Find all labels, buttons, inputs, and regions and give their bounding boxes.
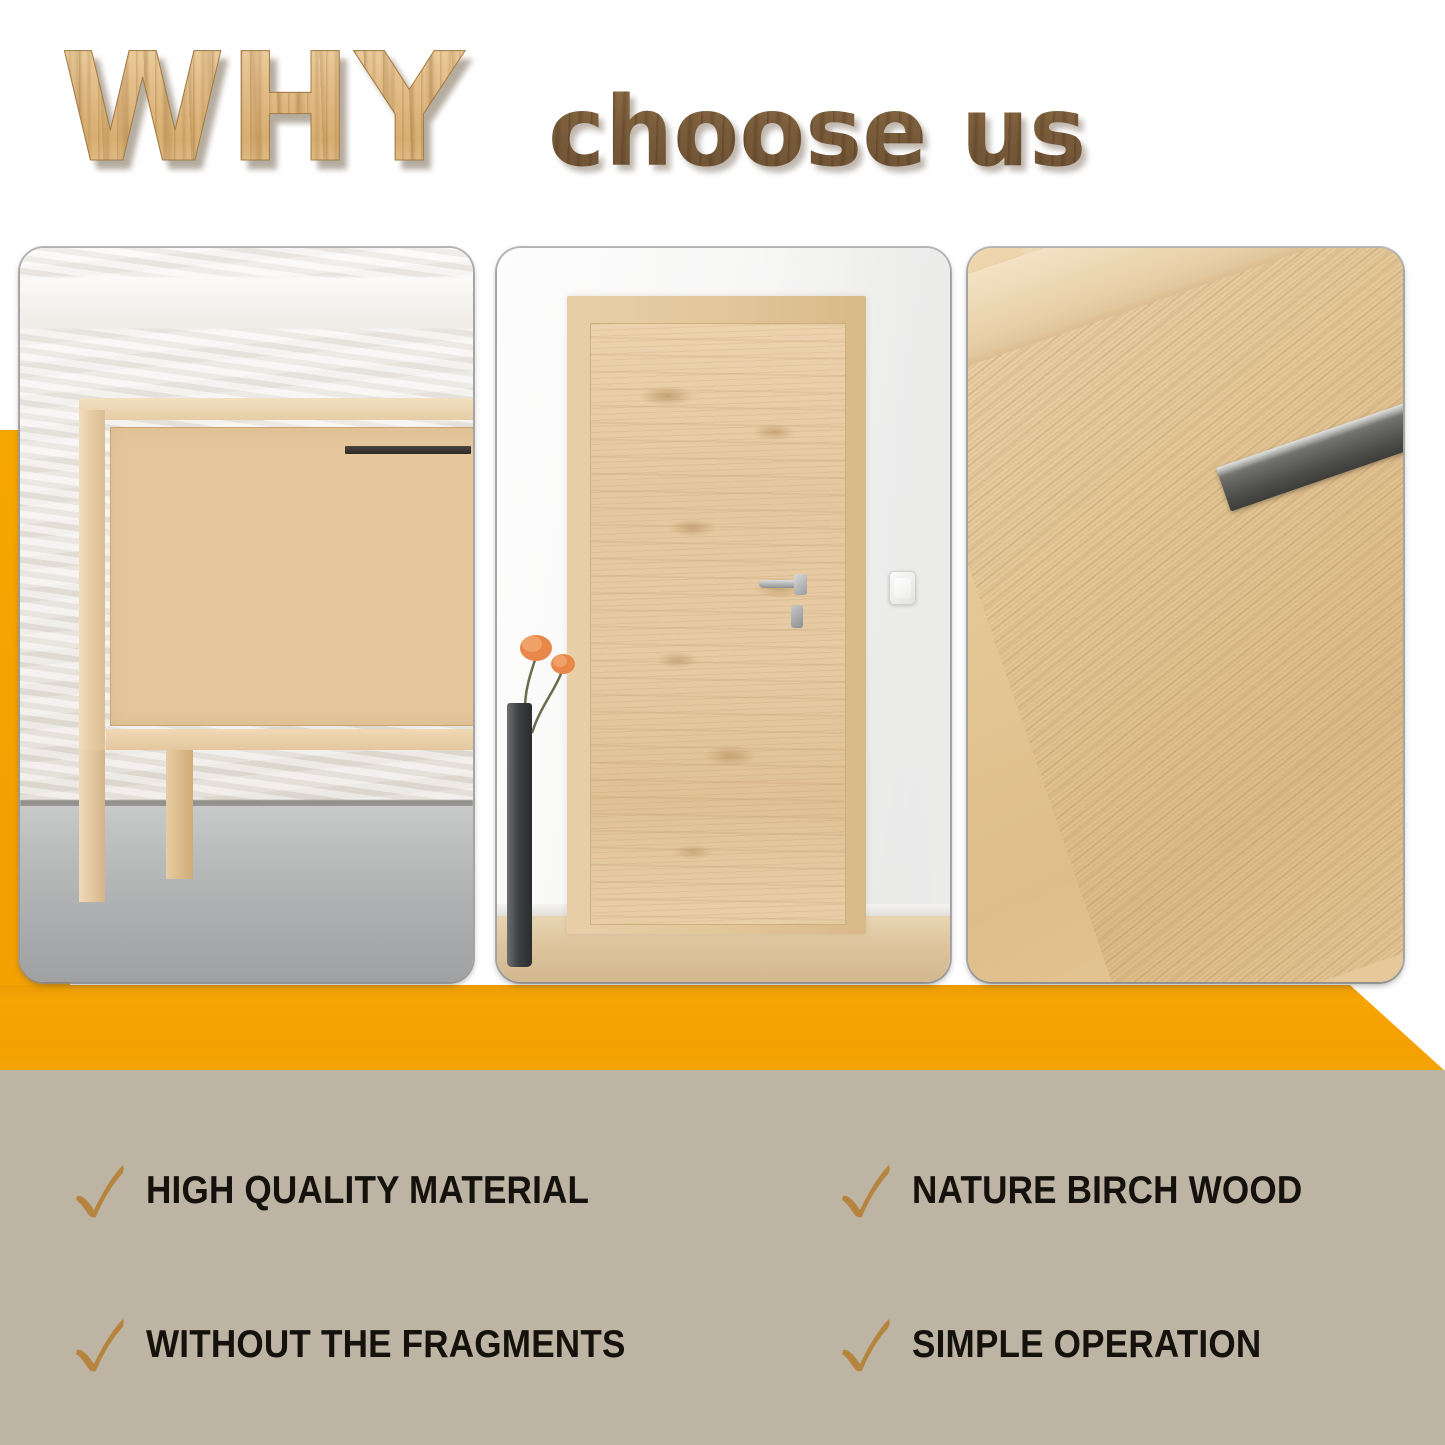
feature-label: HIGH QUALITY MATERIAL [146, 1169, 589, 1213]
door-lever-handle [759, 580, 798, 588]
feature-item-0: HIGH QUALITY MATERIAL [72, 1160, 638, 1222]
feature-item-1: NATURE BIRCH WOOD [838, 1160, 1346, 1222]
feature-label: WITHOUT THE FRAGMENTS [146, 1323, 626, 1367]
feature-item-2: WITHOUT THE FRAGMENTS [72, 1314, 679, 1376]
feature-label: NATURE BIRCH WOOD [912, 1169, 1302, 1213]
cabinet-body [79, 398, 473, 780]
door-scene [497, 248, 950, 982]
check-icon [72, 1314, 132, 1376]
cabinet-bottom-rail [106, 729, 473, 750]
cabinet-leg-front-left [79, 750, 105, 903]
feature-label: SIMPLE OPERATION [912, 1323, 1261, 1367]
cabinet-top-panel [79, 398, 473, 419]
door-frame [567, 296, 866, 935]
light-switch [889, 571, 916, 605]
feature-item-3: SIMPLE OPERATION [838, 1314, 1300, 1376]
features-panel: HIGH QUALITY MATERIAL NATURE BIRCH WOOD … [0, 1070, 1445, 1445]
door-lock-cylinder [791, 605, 803, 628]
wall-highlight-band [20, 277, 473, 328]
check-icon [838, 1314, 898, 1376]
check-icon [72, 1160, 132, 1222]
cabinet-left-post [79, 410, 105, 780]
gallery-card-oak-interior-door[interactable] [497, 248, 950, 982]
gallery-card-cabinet-nightstand[interactable] [20, 248, 473, 982]
cabinet-leg-second [166, 750, 193, 880]
oak-door-leaf [590, 323, 846, 925]
cabinet-drawer-front [110, 427, 473, 727]
cabinet-scene [20, 248, 473, 982]
gallery-card-drawer-handle-closeup[interactable] [968, 248, 1403, 982]
infographic-root: WHY choose us [0, 0, 1445, 1445]
image-gallery [0, 0, 1445, 1060]
dark-vase [507, 703, 532, 967]
drawer-closeup-scene [968, 248, 1403, 982]
cabinet-bar-handle [345, 446, 472, 454]
check-icon [838, 1160, 898, 1222]
door-handle-rose [794, 574, 807, 594]
